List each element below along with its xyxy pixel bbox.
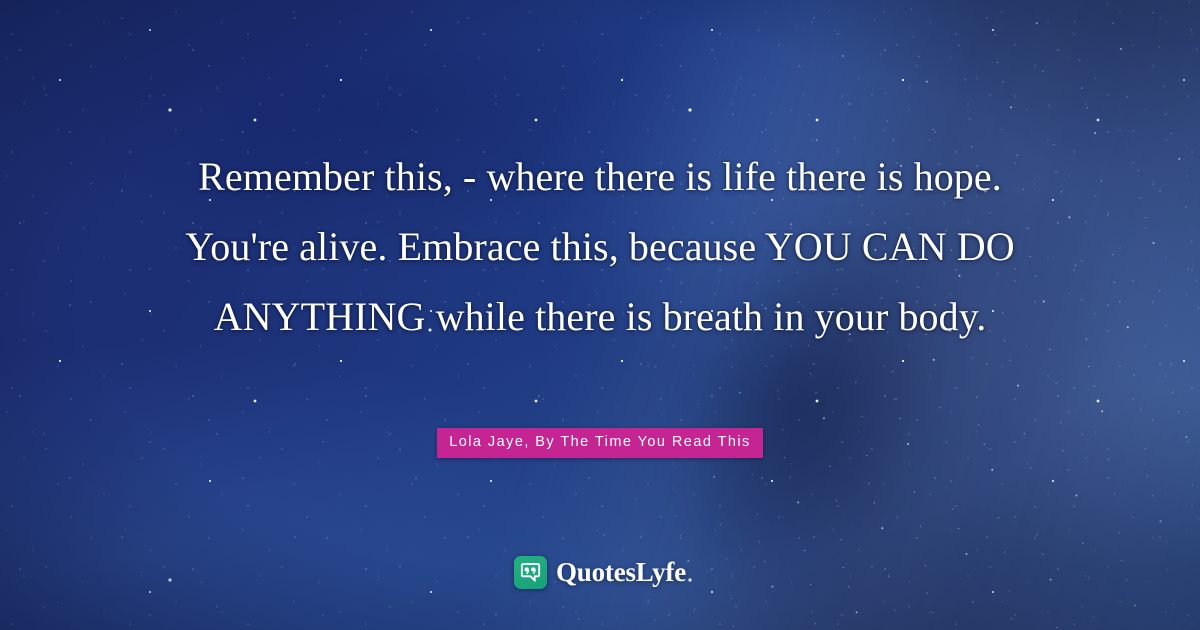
attribution-container: Lola Jaye, By The Time You Read This bbox=[0, 428, 1200, 458]
quote-bubble-icon bbox=[514, 556, 547, 589]
quoteslyfe-wordmark: QuotesLyfe bbox=[556, 559, 686, 586]
quote-card: Remember this, - where there is life the… bbox=[0, 0, 1200, 630]
quote-text: Remember this, - where there is life the… bbox=[0, 142, 1200, 352]
card-content: Remember this, - where there is life the… bbox=[0, 0, 1200, 630]
attribution-badge: Lola Jaye, By The Time You Read This bbox=[437, 428, 763, 458]
quoteslyfe-logo[interactable]: QuotesLyfe bbox=[0, 556, 1200, 589]
